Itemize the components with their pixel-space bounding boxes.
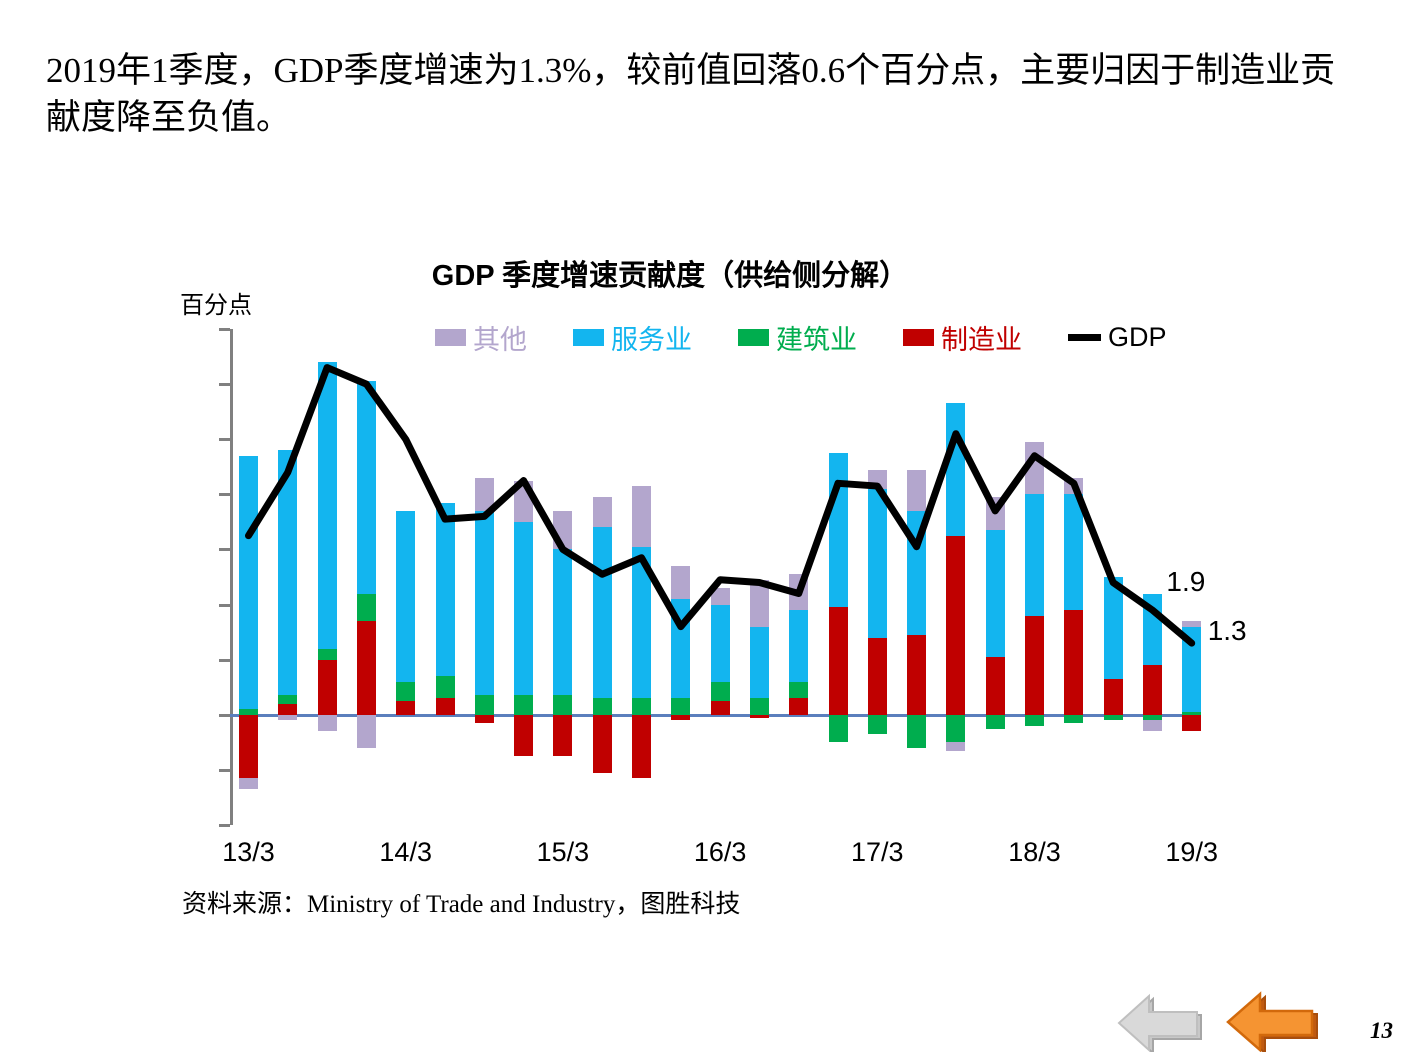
chart-container: GDP 季度增速贡献度（供给侧分解） 百分点 其他服务业建筑业制造业GDP 76… xyxy=(0,240,1411,920)
page-number: 13 xyxy=(1370,1018,1393,1044)
y-tick xyxy=(219,383,230,386)
y-tick xyxy=(219,769,230,772)
gdp-line xyxy=(230,329,1200,825)
x-tick-label: 14/3 xyxy=(379,837,432,868)
x-tick-label: 15/3 xyxy=(537,837,590,868)
x-tick-label: 13/3 xyxy=(222,837,275,868)
data-label: 1.3 xyxy=(1208,615,1247,647)
y-tick xyxy=(219,548,230,551)
y-tick xyxy=(219,493,230,496)
gdp-line-path xyxy=(249,368,1192,644)
x-tick-label: 18/3 xyxy=(1008,837,1061,868)
y-tick xyxy=(219,328,230,331)
x-tick-label: 16/3 xyxy=(694,837,747,868)
back-arrow-icon[interactable] xyxy=(1113,992,1205,1052)
y-tick xyxy=(219,659,230,662)
source-note: 资料来源：Ministry of Trade and Industry，图胜科技 xyxy=(182,884,740,920)
y-axis-title: 百分点 xyxy=(180,285,252,320)
x-tick-label: 19/3 xyxy=(1165,837,1218,868)
previous-arrow-icon[interactable] xyxy=(1222,990,1322,1052)
x-tick-label: 17/3 xyxy=(851,837,904,868)
chart-title: GDP 季度增速贡献度（供给侧分解） xyxy=(380,252,960,294)
data-label: 1.9 xyxy=(1166,566,1205,598)
y-tick xyxy=(219,438,230,441)
y-tick xyxy=(219,604,230,607)
slide-headline: 2019年1季度，GDP季度增速为1.3%，较前值回落0.6个百分点，主要归因于… xyxy=(46,48,1366,142)
y-tick xyxy=(219,714,230,717)
y-tick xyxy=(219,824,230,827)
plot-area: 76543210-1-2 1.91.3 13/314/315/316/317/3… xyxy=(230,329,1200,825)
